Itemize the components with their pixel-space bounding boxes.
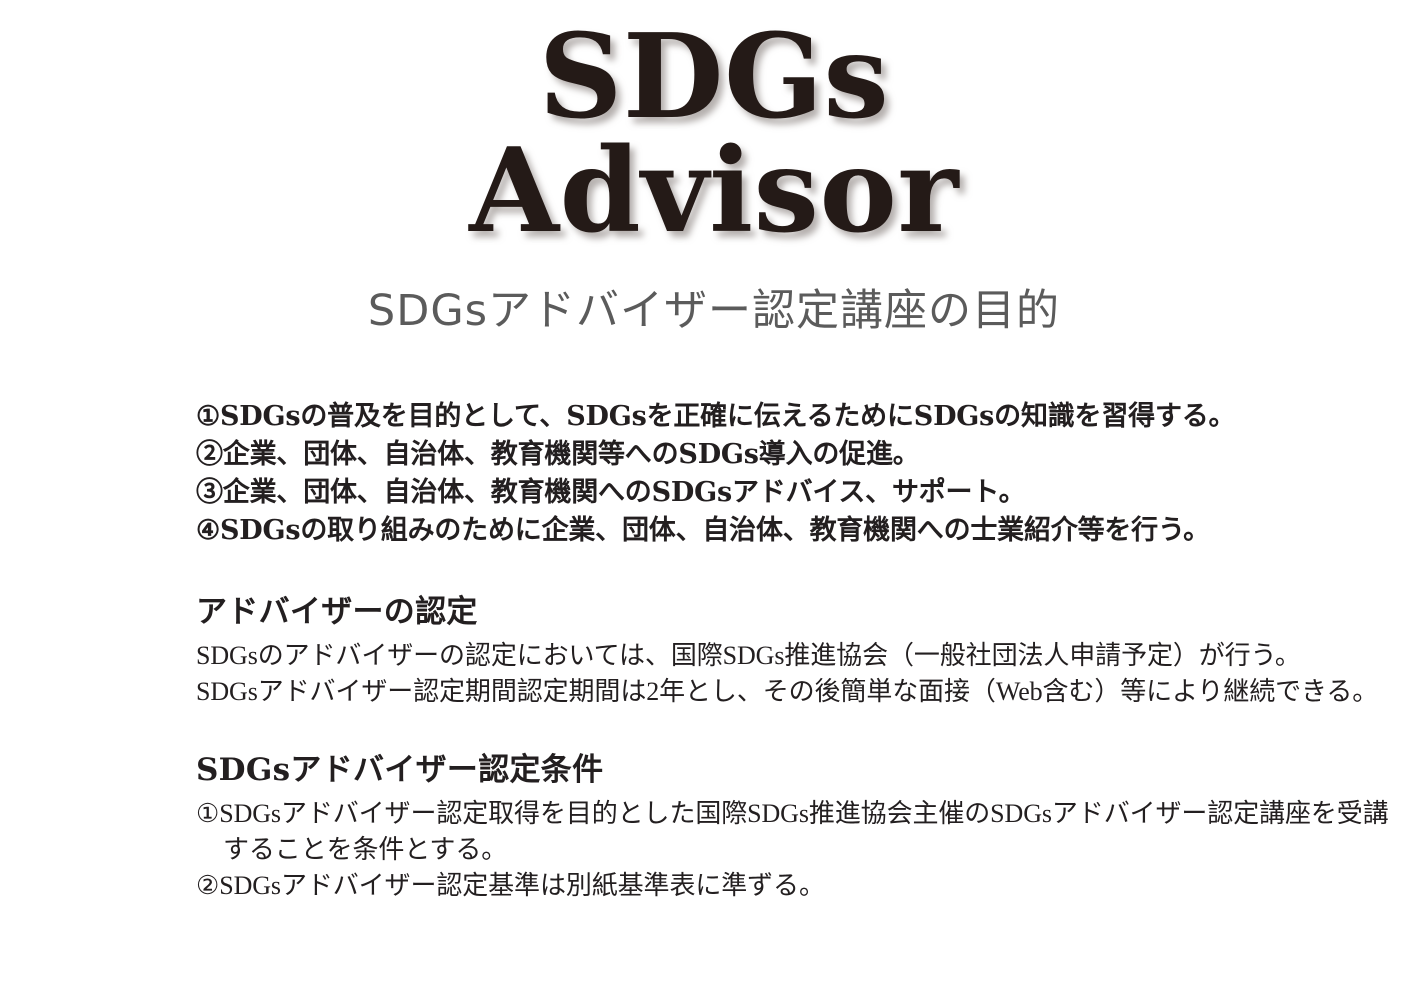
list-item: ②SDGsアドバイザー認定基準は別紙基準表に準ずる。 (196, 868, 1296, 904)
section-paragraph-line: SDGsアドバイザー認定期間認定期間は2年とし、その後簡単な面接（Web含む）等… (196, 674, 1296, 710)
document-subtitle: SDGsアドバイザー認定講座の目的 (0, 288, 1428, 335)
title-block: SDGs Advisor (0, 22, 1428, 246)
section-certification-conditions: SDGsアドバイザー認定条件 ①SDGsアドバイザー認定取得を目的とした国際SD… (196, 750, 1296, 904)
condition-line-primary: ①SDGsアドバイザー認定取得を目的とした国際SDGs推進協会主催のSDGsアド… (196, 799, 1389, 828)
document-body: ①SDGsの普及を目的として、SDGsを正確に伝えるためにSDGsの知識を習得す… (196, 398, 1296, 904)
list-item: ①SDGsアドバイザー認定取得を目的とした国際SDGs推進協会主催のSDGsアド… (196, 796, 1296, 868)
document-title-line-2: Advisor (0, 136, 1428, 246)
condition-line-primary: ②SDGsアドバイザー認定基準は別紙基準表に準ずる。 (196, 871, 825, 900)
conditions-list: ①SDGsアドバイザー認定取得を目的とした国際SDGs推進協会主催のSDGsアド… (196, 796, 1296, 904)
list-item: ③企業、団体、自治体、教育機関へのSDGsアドバイス、サポート。 (196, 474, 1296, 512)
document-title-line-1: SDGs (0, 22, 1428, 132)
section-paragraph-line: SDGsのアドバイザーの認定においては、国際SDGs推進協会（一般社団法人申請予… (196, 638, 1296, 674)
purpose-list: ①SDGsの普及を目的として、SDGsを正確に伝えるためにSDGsの知識を習得す… (196, 398, 1296, 550)
section-heading: SDGsアドバイザー認定条件 (196, 750, 1296, 790)
list-item: ②企業、団体、自治体、教育機関等へのSDGs導入の促進。 (196, 436, 1296, 474)
condition-line-continuation: することを条件とする。 (196, 832, 1296, 868)
list-item: ④SDGsの取り組みのために企業、団体、自治体、教育機関への士業紹介等を行う。 (196, 512, 1296, 550)
section-heading: アドバイザーの認定 (196, 592, 1296, 632)
list-item: ①SDGsの普及を目的として、SDGsを正確に伝えるためにSDGsの知識を習得す… (196, 398, 1296, 436)
section-advisor-certification: アドバイザーの認定 SDGsのアドバイザーの認定においては、国際SDGs推進協会… (196, 592, 1296, 710)
document-page: SDGs Advisor SDGsアドバイザー認定講座の目的 ①SDGsの普及を… (0, 0, 1428, 990)
